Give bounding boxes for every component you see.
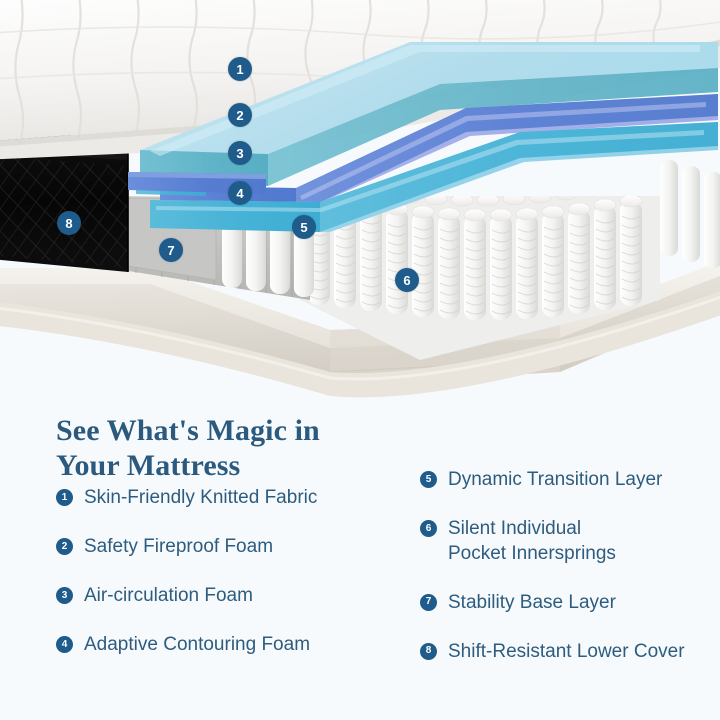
legend-label-5: Dynamic Transition Layer — [448, 467, 662, 492]
legend-item-1[interactable]: 1 Skin-Friendly Knitted Fabric — [56, 485, 416, 511]
right-edge-coils — [660, 160, 720, 268]
legend-label-6: Silent Individual Pocket Innersprings — [448, 516, 616, 567]
legend-item-8[interactable]: 8 Shift-Resistant Lower Cover — [420, 639, 720, 665]
legend-badge-8: 8 — [420, 643, 437, 660]
legend-item-5[interactable]: 5 Dynamic Transition Layer — [420, 467, 720, 493]
legend-label-1: Skin-Friendly Knitted Fabric — [84, 485, 317, 510]
callout-badge-1[interactable]: 1 — [228, 57, 252, 81]
legend-item-6[interactable]: 6 Silent Individual Pocket Innersprings — [420, 516, 720, 567]
legend-column-left: 1 Skin-Friendly Knitted Fabric 2 Safety … — [56, 485, 416, 681]
legend-badge-3: 3 — [56, 587, 73, 604]
legend-label-7: Stability Base Layer — [448, 590, 616, 615]
callout-badge-2[interactable]: 2 — [228, 103, 252, 127]
legend-heading: See What's Magic in Your Mattress — [56, 413, 386, 483]
legend-label-4: Adaptive Contouring Foam — [84, 632, 310, 657]
callout-badge-7[interactable]: 7 — [159, 238, 183, 262]
legend-badge-7: 7 — [420, 594, 437, 611]
legend-label-3: Air-circulation Foam — [84, 583, 253, 608]
mattress-cutaway-diagram: 1 2 3 4 5 6 7 8 — [0, 0, 720, 410]
legend-item-2[interactable]: 2 Safety Fireproof Foam — [56, 534, 416, 560]
legend-label-2: Safety Fireproof Foam — [84, 534, 273, 559]
callout-badge-4[interactable]: 4 — [228, 181, 252, 205]
callout-badge-3[interactable]: 3 — [228, 141, 252, 165]
legend-badge-2: 2 — [56, 538, 73, 555]
legend-badge-1: 1 — [56, 489, 73, 506]
legend-label-8: Shift-Resistant Lower Cover — [448, 639, 685, 664]
legend-badge-6: 6 — [420, 520, 437, 537]
callout-badge-5[interactable]: 5 — [292, 215, 316, 239]
callout-badge-8[interactable]: 8 — [57, 211, 81, 235]
layer-legend: See What's Magic in Your Mattress 1 Skin… — [0, 405, 720, 720]
mattress-illustration — [0, 0, 720, 410]
legend-item-3[interactable]: 3 Air-circulation Foam — [56, 583, 416, 609]
legend-item-4[interactable]: 4 Adaptive Contouring Foam — [56, 632, 416, 658]
callout-badge-6[interactable]: 6 — [395, 268, 419, 292]
legend-badge-4: 4 — [56, 636, 73, 653]
legend-column-right: 5 Dynamic Transition Layer 6 Silent Indi… — [420, 467, 720, 688]
legend-badge-5: 5 — [420, 471, 437, 488]
legend-item-7[interactable]: 7 Stability Base Layer — [420, 590, 720, 616]
